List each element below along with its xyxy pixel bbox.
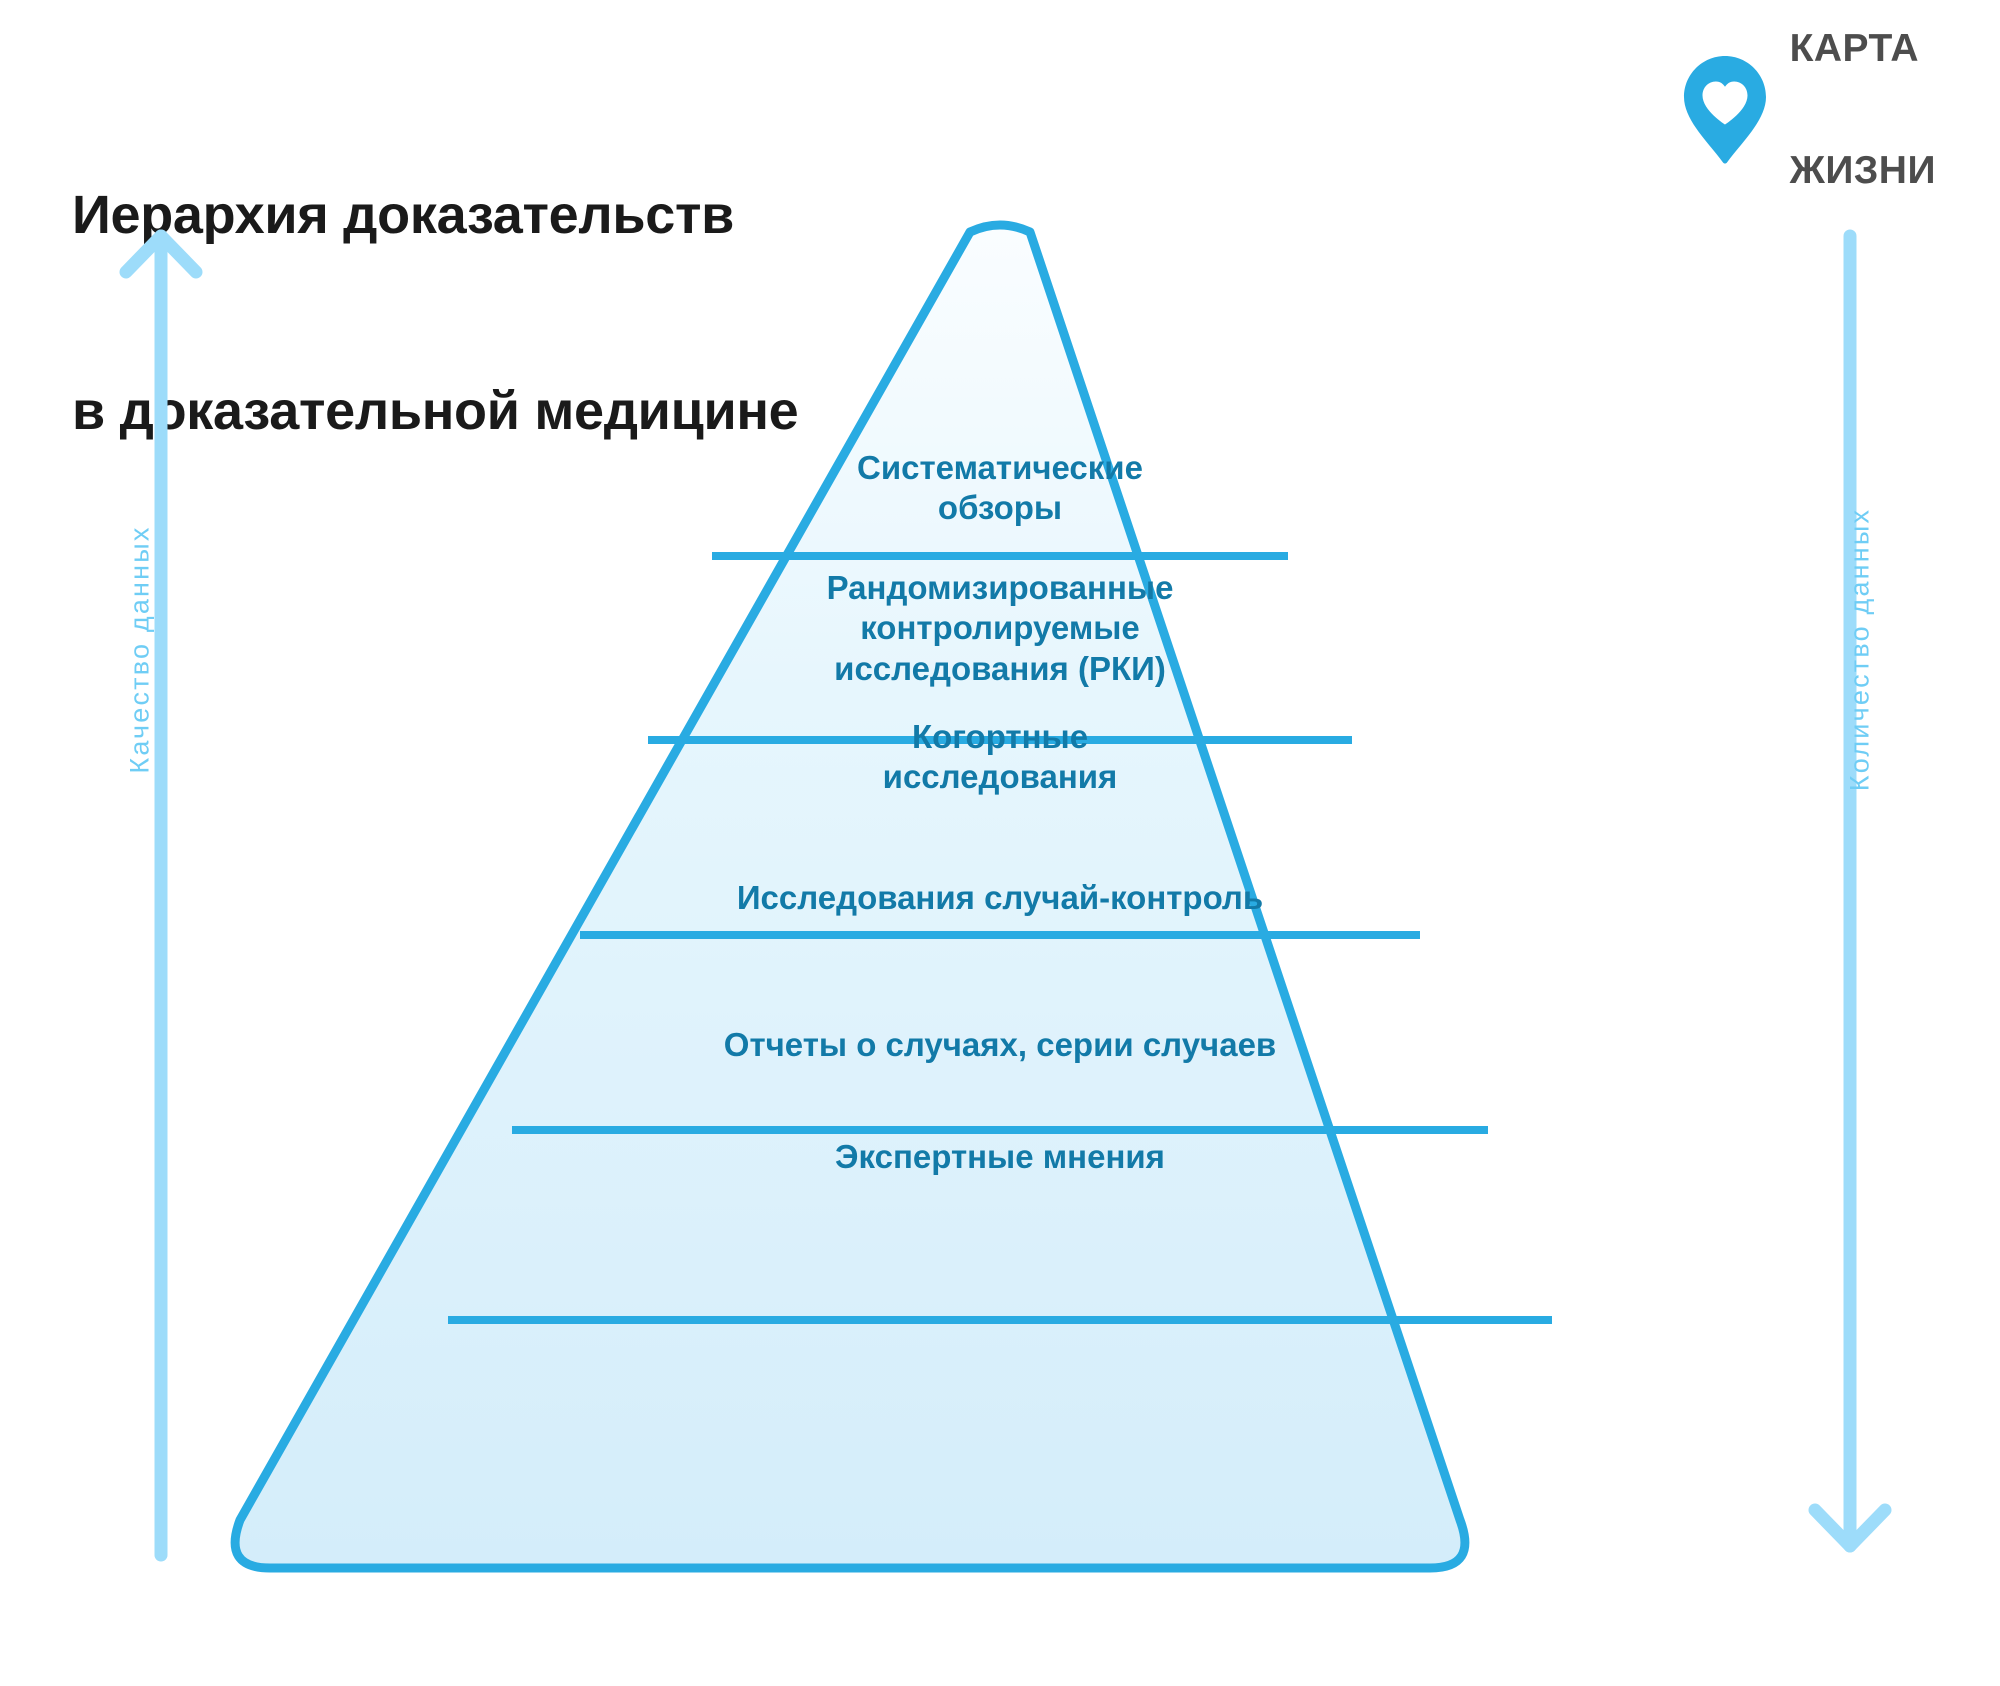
evidence-pyramid-figure: Систематические обзоры Рандомизированные… [0, 210, 2000, 1686]
right-axis-label: Количество данных [1845, 450, 1876, 850]
pyramid-body [235, 225, 1552, 1568]
pyramid-outline [235, 225, 1465, 1568]
quantity-axis-arrow-down [1815, 236, 1885, 1546]
left-axis-label: Качество данных [125, 450, 156, 850]
brand-logo: КАРТА ЖИЗНИ [1682, 50, 1936, 170]
map-pin-heart-icon [1682, 54, 1768, 166]
brand-logo-line-2: ЖИЗНИ [1790, 151, 1936, 192]
brand-logo-line-1: КАРТА [1790, 29, 1936, 70]
pyramid-graphic [0, 210, 2000, 1686]
page-header: Иерархия доказательств в доказательной м… [0, 0, 2000, 210]
quality-axis-arrow-up [126, 236, 196, 1555]
